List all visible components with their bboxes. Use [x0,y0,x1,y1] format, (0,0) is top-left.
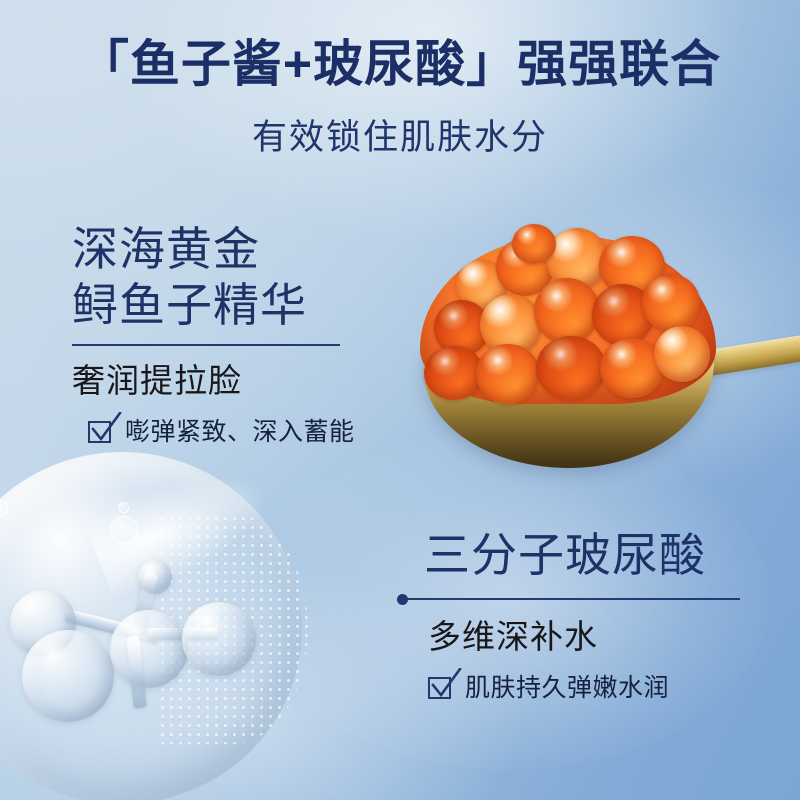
hyaluronic-title: 三分子玻尿酸 [424,528,740,582]
molecule-atom-center [110,610,188,688]
checkbox-checked-icon [88,419,116,445]
divider-dot [397,594,408,605]
feature-block-caviar: 深海黄金 鲟鱼子精华 奢润提拉脸 嘭弹紧致、深入蓄能 [72,222,355,448]
hyaluronic-bullet-row: 肌肤持久弹嫩水润 [428,672,740,704]
roe-egg [642,274,700,332]
banner-subheadline: 有效锁住肌肤水分 [0,115,800,161]
checkbox-checked-icon [428,675,456,701]
molecule-atom [22,630,114,722]
roe-egg [536,336,606,400]
roe-egg [512,224,556,264]
small-bubble [110,516,138,544]
roe-egg [534,278,600,344]
caviar-title-line1: 深海黄金 [72,222,355,276]
caviar-spoon-image [396,222,800,512]
hyaluronic-bullet-label: 肌肤持久弹嫩水润 [465,672,669,704]
roe-egg [654,326,710,382]
molecule-atom [182,602,256,676]
feature-block-hyaluronic: 三分子玻尿酸 多维深补水 肌肤持久弹嫩水润 [398,528,740,704]
roe-egg [424,346,484,400]
hyaluronic-divider [398,598,740,600]
banner-headline: 「鱼子酱+玻尿酸」强强联合 [0,34,800,94]
molecule-atom [138,560,172,594]
caviar-divider [72,344,340,346]
caviar-bullet-label: 嘭弹紧致、深入蓄能 [125,416,355,448]
checkmark-icon [429,668,463,700]
roe-egg [476,344,540,404]
caviar-title-line2: 鲟鱼子精华 [72,278,355,332]
hyaluronic-subtitle: 多维深补水 [428,616,740,658]
caviar-subtitle: 奢润提拉脸 [72,360,355,402]
molecule-bubble-image [0,452,322,800]
promo-banner: 「鱼子酱+玻尿酸」强强联合 有效锁住肌肤水分 深海黄金 鲟鱼子精华 奢润提拉脸 … [0,0,800,800]
small-bubble [118,502,129,513]
checkmark-icon [89,412,123,444]
caviar-bullet-row: 嘭弹紧致、深入蓄能 [88,416,355,448]
